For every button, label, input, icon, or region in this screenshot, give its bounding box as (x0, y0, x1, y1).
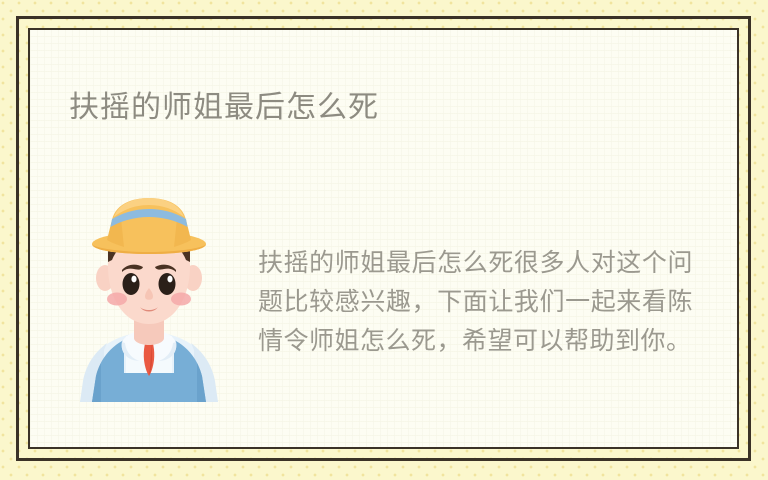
avatar (74, 190, 224, 402)
boy-with-straw-hat-icon (74, 190, 224, 402)
page-title: 扶摇的师姐最后怎么死 (69, 88, 379, 128)
poster-canvas: 扶摇的师姐最后怎么死 (0, 0, 768, 480)
content-panel: 扶摇的师姐最后怎么死 (28, 28, 739, 449)
article-paragraph: 扶摇的师姐最后怎么死很多人对这个问题比较感兴趣，下面让我们一起来看陈情令师姐怎么… (258, 243, 693, 360)
